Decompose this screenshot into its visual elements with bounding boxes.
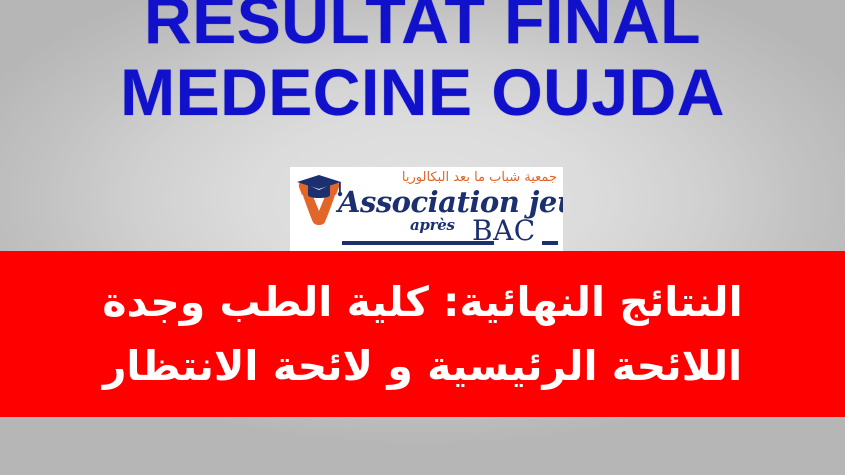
- red-banner: النتائج النهائية: كلية الطب وجدة اللائحة…: [0, 251, 845, 417]
- headline-line-1: RÉSULTAT FINAL: [0, 0, 845, 56]
- banner-line-1: النتائج النهائية: كلية الطب وجدة: [102, 270, 742, 334]
- headline-line-2: MEDECINE OUJDA: [0, 56, 845, 128]
- logo-underline-short: [542, 241, 558, 245]
- poster-canvas: RÉSULTAT FINAL MEDECINE OUJDA جمعية شباب…: [0, 0, 845, 475]
- logo-script-apres: après: [410, 217, 455, 233]
- poster-headline: RÉSULTAT FINAL MEDECINE OUJDA: [0, 0, 845, 128]
- association-logo: جمعية شباب ما بعد البكالوريا Association…: [290, 167, 563, 251]
- banner-line-2: اللائحة الرئيسية و لائحة الانتظار: [103, 334, 742, 398]
- logo-underline-long: [342, 241, 494, 245]
- logo-arabic-tagline: جمعية شباب ما بعد البكالوريا: [402, 169, 557, 186]
